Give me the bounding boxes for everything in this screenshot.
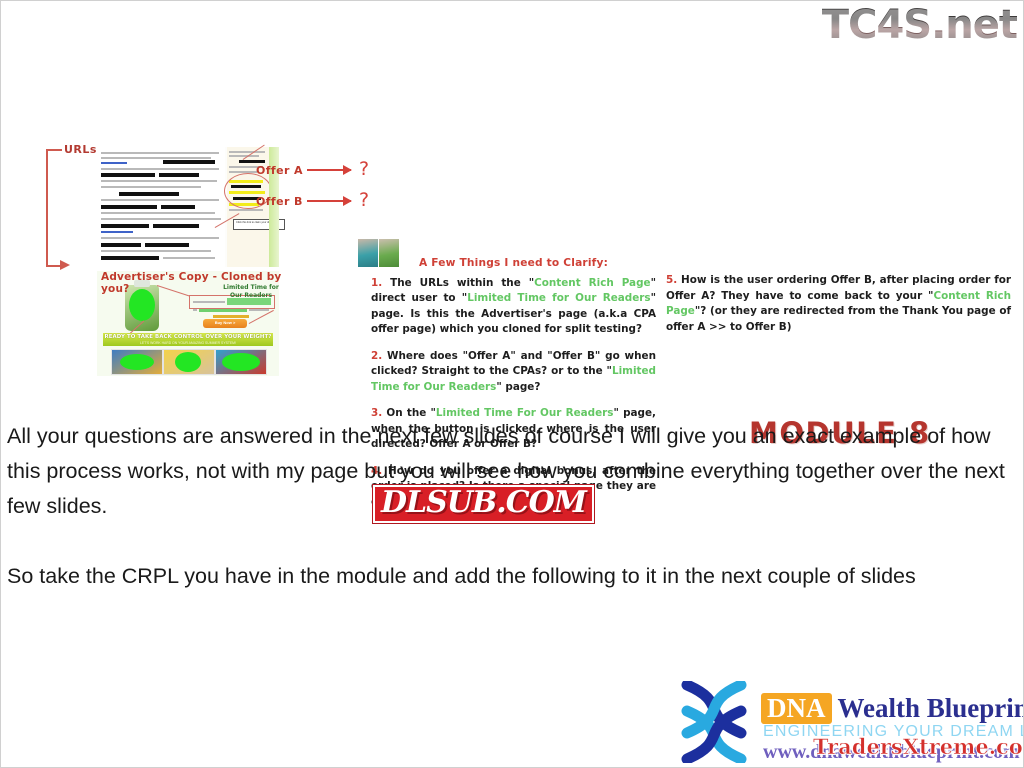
tradersxtreme-watermark: TradersXtreme.com: [813, 734, 1024, 759]
question-3-text: Limited Time For Our Readers: [436, 407, 614, 419]
question-5-body-number: 5.: [666, 274, 677, 286]
dna-logo-title: DNAWealth Blueprint: [761, 693, 1024, 724]
promo-banner-headline: READY TO TAKE BACK CONTROL OVER YOUR WEI…: [103, 334, 273, 340]
body-paragraph-1: All your questions are answered in the n…: [7, 419, 1017, 524]
urls-bracket-shape: [46, 149, 62, 267]
question-3-text: On the ": [382, 407, 436, 419]
slide-canvas: TC4S.net URLs: [0, 0, 1024, 768]
promo-banner-subline: LET'S WORK HARD ON YOUR AMAZING SUMMER S…: [103, 341, 273, 345]
question-5-body-text: "? (or they are redirected from the Than…: [666, 305, 1011, 333]
figure-area: URLs: [1, 121, 1024, 401]
product-thumbnail-1: [111, 349, 163, 375]
paragraph-spacer: [7, 524, 1017, 559]
urls-annotation-label: URLs: [64, 143, 97, 156]
article-main-column: [97, 147, 225, 267]
question-2-text: " page?: [496, 381, 540, 393]
urls-arrow-icon: [60, 260, 70, 270]
offer-b-question-mark: ?: [359, 189, 369, 211]
dna-wealth-blueprint-logo: DNAWealth Blueprint ENGINEERING YOUR DRE…: [677, 679, 1017, 765]
advertiser-copy-subtitle: Limited Time for Our Readers: [216, 284, 286, 300]
cta-button[interactable]: Buy Now >: [203, 319, 247, 328]
promo-banner: READY TO TAKE BACK CONTROL OVER YOUR WEI…: [103, 333, 273, 346]
question-2: 2. Where does "Offer A" and "Offer B" go…: [371, 349, 656, 396]
offer-a-arrow-icon: [307, 169, 351, 171]
questions-heading: A Few Things I need to Clarify:: [371, 256, 656, 272]
question-1-text: Limited Time for Our Readers: [467, 292, 650, 304]
question-3-number: 3.: [371, 407, 382, 419]
question-1-text: Content Rich Page: [534, 277, 650, 289]
dna-badge: DNA: [761, 693, 832, 724]
question-2-number: 2.: [371, 350, 382, 362]
product-thumbnail-3: [215, 349, 267, 375]
body-paragraph-2: So take the CRPL you have in the module …: [7, 559, 1017, 594]
body-text: All your questions are answered in the n…: [7, 419, 1017, 594]
article-screenshot: Click this link to claim your discount: [97, 147, 279, 267]
offer-a-label: Offer A: [256, 164, 303, 177]
offer-b-label: Offer B: [256, 195, 303, 208]
dna-title-text: Wealth Blueprint: [838, 693, 1024, 723]
offer-b-arrow-icon: [307, 200, 351, 202]
product-thumbnail-2: [163, 349, 215, 375]
offer-a-question-mark: ?: [359, 158, 369, 180]
question-1: 1. The URLs within the "Content Rich Pag…: [371, 276, 656, 338]
dna-helix-icon: [677, 681, 751, 763]
tc4s-logo: TC4S.net: [822, 5, 1017, 45]
question-1-number: 1.: [371, 277, 382, 289]
question-1-text: The URLs within the ": [382, 277, 534, 289]
question-5-body: 5. How is the user ordering Offer B, aft…: [666, 273, 1011, 335]
question-5: 5. How is the user ordering Offer B, aft…: [666, 273, 1011, 346]
